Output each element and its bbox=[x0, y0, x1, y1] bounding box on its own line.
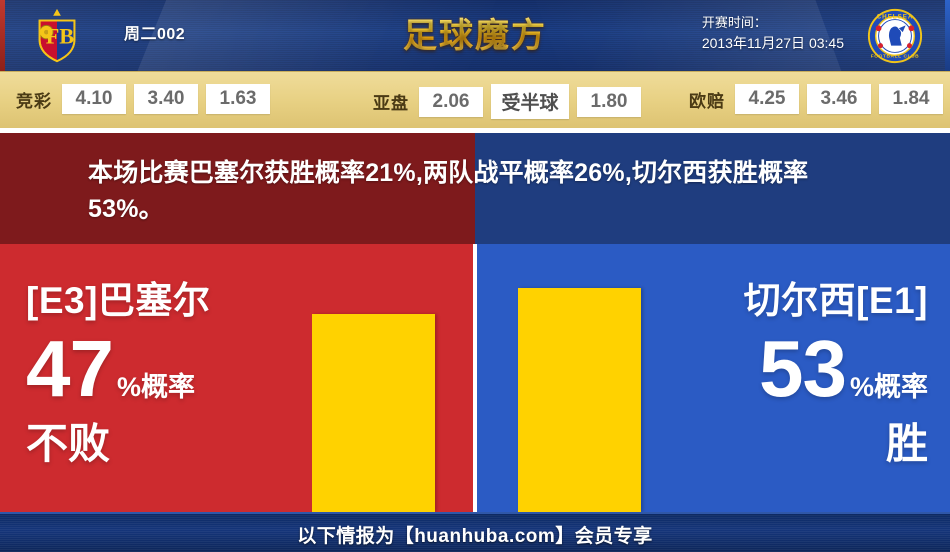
home-team-name: [E3]巴塞尔 bbox=[26, 282, 210, 319]
brand-logo-text: 足球魔方 bbox=[403, 8, 547, 57]
away-team-name: 切尔西[E1] bbox=[744, 282, 928, 319]
odds-yapan-home[interactable]: 2.06 bbox=[419, 87, 483, 117]
summary-text: 本场比赛巴塞尔获胜概率21%,两队战平概率26%,切尔西获胜概率53%。 bbox=[88, 155, 878, 228]
home-team-panel: [E3]巴塞尔 47 %概率 不败 bbox=[0, 244, 473, 512]
away-probability-bar bbox=[518, 288, 641, 512]
away-probability-value: 53 bbox=[759, 331, 846, 407]
odds-bar: 竞彩 4.10 3.40 1.63 亚盘 2.06 受半球 1.80 欧赔 4.… bbox=[0, 71, 950, 130]
home-outcome-label: 不败 bbox=[26, 423, 210, 465]
odds-jingcai-away[interactable]: 1.63 bbox=[206, 84, 270, 114]
summary-banner: 本场比赛巴塞尔获胜概率21%,两队战平概率26%,切尔西获胜概率53%。 bbox=[0, 133, 950, 244]
match-probability-graphic: FB 周二002 足球魔方 开赛时间： 2013年11月27日 03:45 CH… bbox=[0, 0, 950, 552]
home-probability-unit: %概率 bbox=[117, 365, 195, 404]
away-probability-row: 53 %概率 bbox=[744, 331, 928, 407]
odds-jingcai-draw[interactable]: 3.40 bbox=[134, 84, 198, 114]
odds-group-yapan: 亚盘 2.06 受半球 1.80 bbox=[373, 84, 641, 119]
footer-bar: 以下情报为【huanhuba.com】会员专享 bbox=[0, 512, 950, 552]
away-team-info: 切尔西[E1] 53 %概率 胜 bbox=[744, 282, 928, 465]
svg-text:FB: FB bbox=[46, 24, 75, 49]
away-team-panel: 切尔西[E1] 53 %概率 胜 bbox=[477, 244, 950, 512]
kickoff-label: 开赛时间： bbox=[702, 13, 844, 33]
odds-label-yapan: 亚盘 bbox=[373, 89, 409, 114]
svg-text:CHELSEA: CHELSEA bbox=[877, 14, 914, 21]
odds-oupei-home[interactable]: 4.25 bbox=[735, 84, 799, 114]
match-number: 周二002 bbox=[124, 20, 185, 44]
away-outcome-label: 胜 bbox=[744, 423, 928, 465]
probability-chart: [E3]巴塞尔 47 %概率 不败 切尔西[E1] 53 %概率 胜 bbox=[0, 244, 950, 512]
fc-basel-crest-icon: FB bbox=[28, 7, 86, 65]
odds-oupei-draw[interactable]: 3.46 bbox=[807, 84, 871, 114]
kickoff-datetime: 2013年11月27日 03:45 bbox=[702, 33, 844, 54]
footer-text: 以下情报为【huanhuba.com】会员专享 bbox=[297, 521, 653, 548]
home-team-info: [E3]巴塞尔 47 %概率 不败 bbox=[26, 282, 210, 465]
chelsea-fc-crest-icon: CHELSEA FOOTBALL CLUB bbox=[866, 7, 924, 65]
odds-oupei-away[interactable]: 1.84 bbox=[879, 84, 943, 114]
away-probability-unit: %概率 bbox=[850, 365, 928, 404]
odds-yapan-handicap[interactable]: 受半球 bbox=[491, 84, 569, 119]
header-edge-right bbox=[945, 0, 950, 71]
header-bar: FB 周二002 足球魔方 开赛时间： 2013年11月27日 03:45 CH… bbox=[0, 0, 950, 71]
odds-jingcai-home[interactable]: 4.10 bbox=[62, 84, 126, 114]
odds-yapan-away[interactable]: 1.80 bbox=[577, 87, 641, 117]
home-probability-bar bbox=[312, 314, 435, 512]
home-probability-value: 47 bbox=[26, 331, 113, 407]
svg-text:FOOTBALL CLUB: FOOTBALL CLUB bbox=[871, 53, 920, 59]
header-edge-left bbox=[0, 0, 5, 71]
odds-group-oupei: 欧赔 4.25 3.46 1.84 bbox=[689, 84, 943, 114]
odds-label-jingcai: 竞彩 bbox=[16, 87, 52, 112]
odds-group-jingcai: 竞彩 4.10 3.40 1.63 bbox=[16, 84, 270, 114]
odds-label-oupei: 欧赔 bbox=[689, 87, 725, 112]
home-probability-row: 47 %概率 bbox=[26, 331, 210, 407]
kickoff-info: 开赛时间： 2013年11月27日 03:45 bbox=[702, 13, 844, 54]
